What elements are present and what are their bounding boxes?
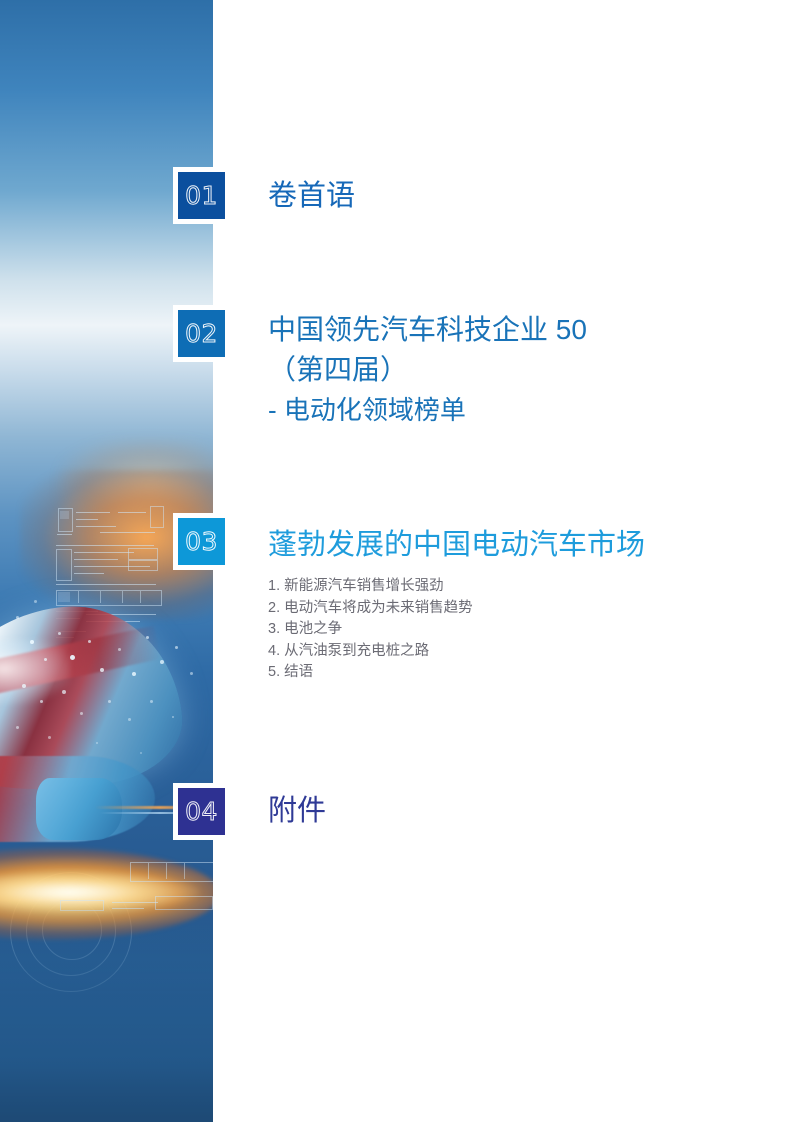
section-number-01: 01 bbox=[185, 183, 218, 208]
toc-title-04-line-1: 附件 bbox=[268, 791, 326, 831]
section-badge-02: 02 bbox=[173, 305, 230, 362]
toc-entry-02[interactable]: 中国领先汽车科技企业 50 （第四届） - 电动化领域榜单 bbox=[268, 310, 587, 430]
section-number-03: 03 bbox=[185, 529, 218, 554]
toc-subitem[interactable]: 4. 从汽油泵到充电桩之路 bbox=[268, 641, 645, 663]
section-badge-03: 03 bbox=[173, 513, 230, 570]
toc-subitem-list-03: 1. 新能源汽车销售增长强劲2. 电动汽车将成为未来销售趋势3. 电池之争4. … bbox=[268, 576, 645, 684]
section-badge-square-02: 02 bbox=[178, 310, 225, 357]
toc-subitem[interactable]: 3. 电池之争 bbox=[268, 619, 645, 641]
section-badge-square-04: 04 bbox=[178, 788, 225, 835]
toc-entry-01[interactable]: 卷首语 bbox=[268, 176, 355, 216]
toc-title-01-line-1: 卷首语 bbox=[268, 176, 355, 216]
section-badge-01: 01 bbox=[173, 167, 230, 224]
section-number-02: 02 bbox=[185, 321, 218, 346]
section-badge-square-01: 01 bbox=[178, 172, 225, 219]
artwork-bottom-shade bbox=[0, 900, 213, 1122]
toc-title-02-line-2: （第四届） bbox=[268, 350, 587, 390]
toc-title-02-line-1: 中国领先汽车科技企业 50 bbox=[268, 310, 587, 350]
toc-subitem[interactable]: 1. 新能源汽车销售增长强劲 bbox=[268, 576, 645, 598]
toc-subitem[interactable]: 5. 结语 bbox=[268, 662, 645, 684]
toc-page: 01 卷首语 02 中国领先汽车科技企业 50 （第四届） - 电动化领域榜单 … bbox=[0, 0, 793, 1122]
toc-entry-04[interactable]: 附件 bbox=[268, 791, 326, 831]
section-badge-04: 04 bbox=[173, 783, 230, 840]
toc-subitem[interactable]: 2. 电动汽车将成为未来销售趋势 bbox=[268, 598, 645, 620]
toc-title-02-line-3: - 电动化领域榜单 bbox=[268, 390, 587, 430]
section-number-04: 04 bbox=[185, 799, 218, 824]
toc-entry-03[interactable]: 蓬勃发展的中国电动汽车市场 1. 新能源汽车销售增长强劲2. 电动汽车将成为未来… bbox=[268, 524, 645, 684]
section-badge-square-03: 03 bbox=[178, 518, 225, 565]
toc-title-03-line-1: 蓬勃发展的中国电动汽车市场 bbox=[268, 524, 645, 566]
